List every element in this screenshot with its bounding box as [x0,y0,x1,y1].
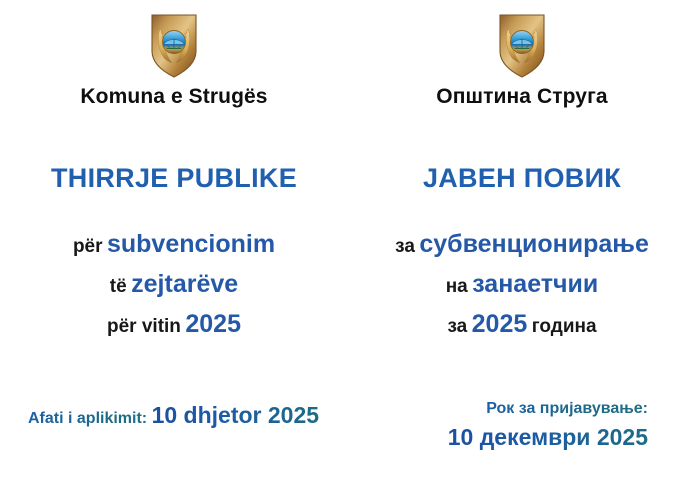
deadline-label: Afati i aplikimit: [28,408,147,430]
subject-plain: për vitin [107,316,181,337]
subject-accent: субвенционирање [419,230,649,258]
subject-line: të zejtarëve [0,266,348,306]
subject-accent-year: 2025 [185,310,241,338]
subject-accent: zejtarëve [131,270,238,298]
headline-macedonian: ЈАВЕН ПОВИК [348,162,696,194]
subject-accent: занаетчии [472,270,598,298]
subject-plain: на [446,276,468,297]
deadline-date: 10 dhjetor 2025 [152,400,319,430]
municipality-name-macedonian: Општина Струга [348,84,696,110]
struga-coat-of-arms-icon [496,13,548,79]
subject-block-albanian: për subvencionim të zejtarëve për vitin … [0,226,348,346]
subject-tail: година [532,316,597,337]
deadline-block-macedonian: Рок за пријавување: 10 декември 2025 [348,398,696,452]
emblem-container-macedonian [348,13,696,79]
subject-accent: subvencionim [107,230,275,258]
headline-albanian: THIRRJE PUBLIKE [0,162,348,194]
municipality-name-albanian: Komuna e Strugës [0,84,348,110]
subject-line: за субвенционирање [348,226,696,266]
subject-plain: të [110,276,127,297]
subject-block-macedonian: за субвенционирање на занаетчии за 2025 … [348,226,696,346]
struga-coat-of-arms-icon [148,13,200,79]
subject-line: на занаетчии [348,266,696,306]
subject-line: për subvencionim [0,226,348,266]
subject-plain: за [447,316,467,337]
deadline-date: 10 декември 2025 [448,422,648,452]
albanian-column: Komuna e Strugës THIRRJE PUBLIKE për sub… [0,0,348,497]
subject-line: за 2025 година [348,306,696,346]
subject-accent-year: 2025 [472,310,528,338]
public-call-poster: Komuna e Strugës THIRRJE PUBLIKE për sub… [0,0,696,497]
macedonian-column: Општина Струга ЈАВЕН ПОВИК за субвенцион… [348,0,696,497]
subject-plain: për [73,236,103,257]
subject-plain: за [395,236,415,257]
emblem-container-albanian [0,13,348,79]
deadline-block-albanian: Afati i aplikimit: 10 dhjetor 2025 [0,398,348,430]
deadline-label: Рок за пријавување: [486,398,648,420]
subject-line: për vitin 2025 [0,306,348,346]
